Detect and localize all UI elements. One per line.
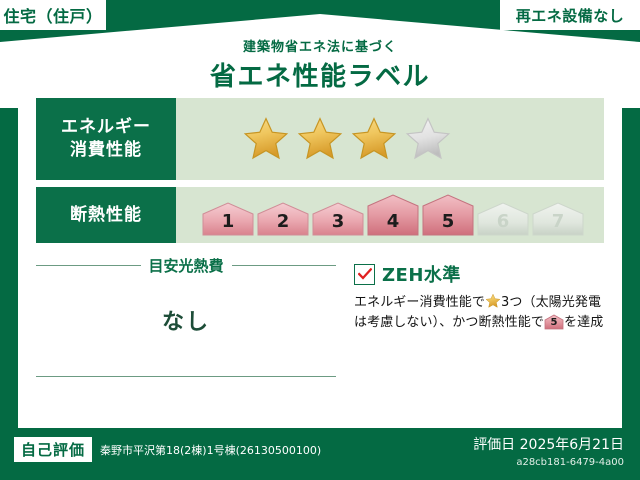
insulation-performance-label: 断熱性能 xyxy=(36,187,176,243)
grade-scale: 1234567 xyxy=(176,194,584,236)
energy-performance-label: エネルギー 消費性能 xyxy=(36,98,176,180)
grade-step-5: 5 xyxy=(422,194,474,236)
star-empty-icon xyxy=(404,115,452,163)
evaluation-date: 評価日 2025年6月21日 xyxy=(473,434,624,454)
zeh-desc-star-count: 3つ（太陽光発電 xyxy=(501,295,601,310)
evaluation-id: a28cb181-6479-4a00 xyxy=(473,457,624,468)
title-block: 建築物省エネ法に基づく 省エネ性能ラベル xyxy=(0,36,640,93)
inline-grade-badge: 5 xyxy=(544,314,564,330)
insulation-performance-value: 1234567 xyxy=(176,187,604,243)
grade-step-7: 7 xyxy=(532,202,584,236)
inline-grade-number: 5 xyxy=(544,316,564,330)
grade-step-label: 6 xyxy=(477,211,529,232)
badge-renewable-energy: 再エネ設備なし xyxy=(500,0,640,30)
zeh-desc-part2: は考慮しない）、かつ断熱性能で xyxy=(354,315,544,330)
check-icon xyxy=(358,268,372,280)
utility-cost-heading-text: 目安光熱費 xyxy=(149,255,224,276)
badge-self-evaluation: 自己評価 xyxy=(14,437,92,462)
grade-step-1: 1 xyxy=(202,202,254,236)
zeh-title-line: ZEH水準 xyxy=(354,261,604,287)
footer-right: 評価日 2025年6月21日 a28cb181-6479-4a00 xyxy=(473,434,624,468)
badge-building-type: 住宅（住戸） xyxy=(0,0,106,30)
energy-performance-row: エネルギー 消費性能 xyxy=(36,98,604,180)
footer-left: 自己評価 秦野市平沢第18(2棟)1号棟(26130500100) xyxy=(14,437,321,462)
energy-performance-label: 住宅（住戸） 再エネ設備なし 建築物省エネ法に基づく 省エネ性能ラベル エネルギ… xyxy=(0,0,640,480)
inline-star-icon xyxy=(485,293,501,309)
grade-step-label: 4 xyxy=(367,211,419,232)
heading-rule-right xyxy=(232,265,337,266)
zeh-desc-part1: エネルギー消費性能で xyxy=(354,295,485,310)
utility-cost-divider xyxy=(36,376,336,377)
zeh-checkbox xyxy=(354,264,375,285)
grade-step-6: 6 xyxy=(477,202,529,236)
energy-label-line2: 消費性能 xyxy=(70,139,142,162)
zeh-block: ZEH水準 エネルギー消費性能で3つ（太陽光発電は考慮しない）、かつ断熱性能で5… xyxy=(336,255,604,377)
utility-cost-heading: 目安光熱費 xyxy=(36,255,336,276)
grade-step-label: 5 xyxy=(422,211,474,232)
zeh-title: ZEH水準 xyxy=(382,261,461,287)
page-title: 省エネ性能ラベル xyxy=(0,56,640,93)
grade-step-2: 2 xyxy=(257,202,309,236)
grade-step-4: 4 xyxy=(367,194,419,236)
grade-step-label: 2 xyxy=(257,211,309,232)
star-filled-icon xyxy=(242,115,290,163)
grade-step-label: 3 xyxy=(312,211,364,232)
star-filled-icon xyxy=(350,115,398,163)
energy-performance-value xyxy=(176,98,604,180)
insulation-label-text: 断熱性能 xyxy=(70,204,142,227)
insulation-performance-row: 断熱性能 1234567 xyxy=(36,187,604,243)
label-card: エネルギー 消費性能 断熱性能 1234567 目安光熱費 xyxy=(18,90,622,428)
zeh-description: エネルギー消費性能で3つ（太陽光発電は考慮しない）、かつ断熱性能で5を達成 xyxy=(354,293,604,333)
utility-cost-value: なし xyxy=(36,304,336,336)
utility-cost-block: 目安光熱費 なし xyxy=(36,255,336,377)
footer-address: 秦野市平沢第18(2棟)1号棟(26130500100) xyxy=(100,442,321,458)
heading-rule-left xyxy=(36,265,141,266)
grade-step-label: 1 xyxy=(202,211,254,232)
star-rating xyxy=(176,115,452,163)
zeh-desc-part3: を達成 xyxy=(564,315,603,330)
lower-section: 目安光熱費 なし ZEH水準 エネルギー消費性能で3つ（太陽光発電は考慮しな xyxy=(36,255,604,377)
grade-step-3: 3 xyxy=(312,202,364,236)
energy-label-line1: エネルギー xyxy=(61,116,151,139)
grade-step-label: 7 xyxy=(532,211,584,232)
star-filled-icon xyxy=(296,115,344,163)
footer: 自己評価 秦野市平沢第18(2棟)1号棟(26130500100) 評価日 20… xyxy=(0,428,640,480)
title-subtitle: 建築物省エネ法に基づく xyxy=(0,36,640,55)
